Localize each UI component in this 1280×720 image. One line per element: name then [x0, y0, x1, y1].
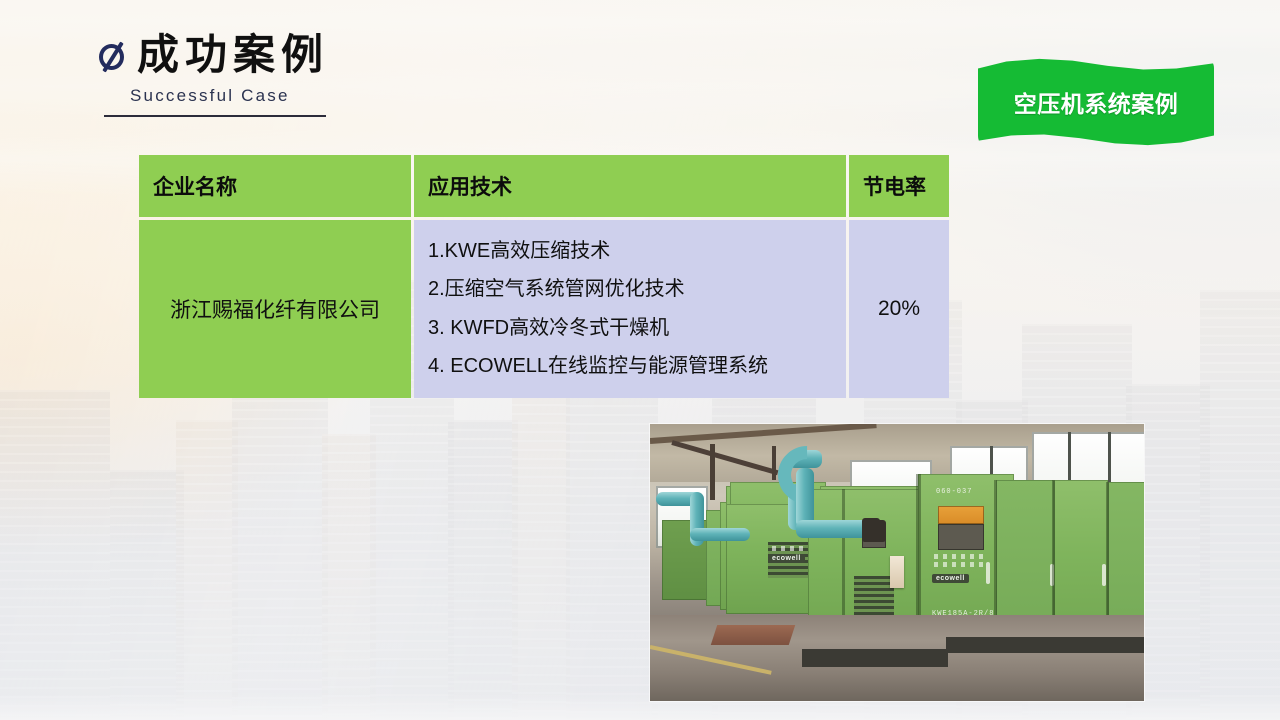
photo-pipe-far	[690, 528, 750, 541]
page-title-block: 成功案例 Successful Case	[96, 34, 329, 117]
technology-item: 1.KWE高效压缩技术	[428, 239, 846, 264]
photo-orange-panel	[938, 506, 984, 524]
table-header-label-technology: 应用技术	[414, 155, 846, 217]
ribbon-label: 空压机系统案例	[978, 58, 1214, 146]
table-header-cell-company: 企业名称	[139, 155, 411, 217]
photo-hanger-rod	[772, 446, 776, 480]
case-photo: ecowell 060-037 ecowell KWE185A-2R/8	[650, 424, 1144, 701]
page-subtitle: Successful Case	[130, 86, 329, 106]
table-header-row: 企业名称 应用技术 节电率	[139, 155, 949, 217]
photo-machine-tag: 060-037	[936, 488, 972, 496]
photo-door-handle	[986, 562, 990, 584]
company-name-value: 浙江赐福化纤有限公司	[139, 220, 411, 398]
page-title: 成功案例	[137, 34, 329, 76]
photo-machine-base	[946, 637, 1144, 653]
table-header-label-rate: 节电率	[849, 155, 949, 217]
case-table: 企业名称 应用技术 节电率 浙江赐福化纤有限公司 1.KWE高效压缩技术 2.	[136, 152, 952, 401]
technology-item: 3. KWFD高效冷冬式干燥机	[428, 316, 846, 341]
photo-indicator-lights	[934, 554, 988, 559]
table-header-cell-technology: 应用技术	[414, 155, 846, 217]
photo-floor-cart	[711, 625, 795, 645]
table-cell-technology: 1.KWE高效压缩技术 2.压缩空气系统管网优化技术 3. KWFD高效冷冬式干…	[414, 220, 846, 398]
technology-list: 1.KWE高效压缩技术 2.压缩空气系统管网优化技术 3. KWFD高效冷冬式干…	[414, 220, 846, 398]
photo-document-holder	[890, 556, 904, 588]
photo-pipe-vertical	[796, 468, 814, 528]
photo-pipe-horizontal	[796, 520, 870, 538]
photo-brand-badge: ecowell	[932, 574, 969, 583]
table-header-cell-rate: 节电率	[849, 155, 949, 217]
title-underline	[104, 115, 326, 117]
slide-canvas: 成功案例 Successful Case 空压机系统案例 企业名称 应用技术 节…	[0, 0, 1280, 720]
photo-brand-badge: ecowell	[768, 554, 805, 563]
table-cell-rate: 20%	[849, 220, 949, 398]
saving-rate-value: 20%	[849, 220, 949, 398]
table-row: 浙江赐福化纤有限公司 1.KWE高效压缩技术 2.压缩空气系统管网优化技术 3.…	[139, 220, 949, 398]
technology-item: 2.压缩空气系统管网优化技术	[428, 277, 846, 302]
photo-display-panel	[938, 524, 984, 550]
photo-machine-base	[802, 649, 948, 667]
photo-indicator-lights	[934, 562, 988, 567]
photo-pipe-flange	[862, 518, 880, 542]
photo-hanger-rod	[710, 444, 715, 500]
table-cell-company: 浙江赐福化纤有限公司	[139, 220, 411, 398]
technology-item: 4. ECOWELL在线监控与能源管理系统	[428, 354, 846, 379]
circle-slash-icon	[96, 41, 129, 74]
table-header-label-company: 企业名称	[139, 155, 411, 217]
section-ribbon-banner: 空压机系统案例	[978, 58, 1214, 146]
